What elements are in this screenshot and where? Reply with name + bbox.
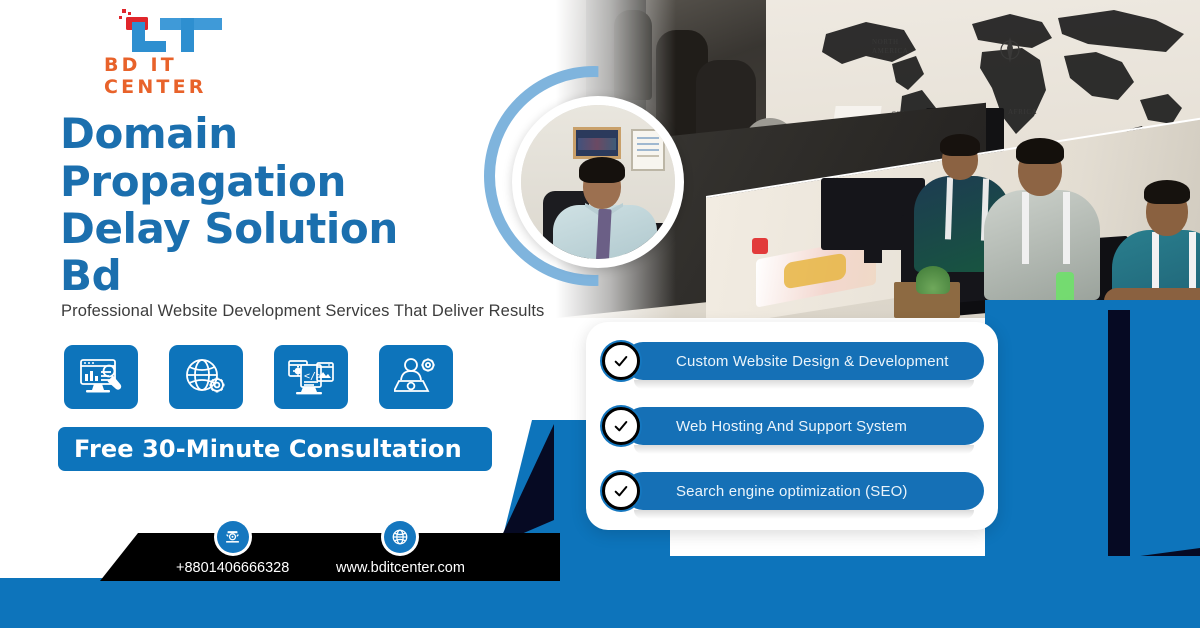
logo[interactable]: BD IT CENTER [92,8,272,74]
service-icon-tiles: </> [64,345,453,409]
navy-diagonal-stripe [560,548,1200,628]
headline-line-1: Domain [60,109,238,158]
globe-icon [384,521,416,553]
website-url: www.bditcenter.com [336,560,465,576]
blue-band-bottom-right [560,556,1200,628]
navy-triangle-accent [498,424,568,544]
page-title: Domain Propagation Delay Solution Bd [60,110,530,300]
subheadline: Professional Website Development Service… [61,302,581,321]
headline-line-2: Propagation [60,157,346,206]
feature-list-card: Custom Website Design & Development Web … [586,322,998,530]
blue-band-bottom-left [0,578,620,628]
check-circle-icon [600,340,642,382]
logo-wordmark: BD IT CENTER [104,54,272,98]
logo-mark-lt-icon [114,8,240,52]
svg-text:AFRICA: AFRICA [1008,108,1037,116]
check-circle-icon [600,470,642,512]
promo-banner: NORTH AMERICA SOUTH AMERICA AFRICA OCEAN… [0,0,1200,628]
headline-line-4: Bd [60,251,121,300]
blue-panel-right [985,300,1200,628]
feature-label-1: Custom Website Design & Development [624,342,984,380]
cta-label: Free 30-Minute Consultation [74,435,462,463]
support-agent-icon[interactable] [379,345,453,409]
svg-text:AMERICA: AMERICA [872,47,908,55]
check-circle-icon [600,405,642,447]
feature-label-3: Search engine optimization (SEO) [624,472,984,510]
phone-number: +8801406666328 [176,560,289,576]
globe-gear-icon[interactable] [169,345,243,409]
contact-website[interactable]: www.bditcenter.com [336,521,465,576]
contact-bar [100,533,560,581]
svg-text:NORTH: NORTH [872,38,899,46]
feature-item-3[interactable]: Search engine optimization (SEO) [600,470,984,512]
portrait-photo [512,96,684,268]
telephone-icon [217,521,249,553]
navy-stripe-right [1108,310,1200,580]
consultation-cta-button[interactable]: Free 30-Minute Consultation [58,427,492,471]
website-monitoring-icon[interactable] [64,345,138,409]
web-design-code-icon[interactable]: </> [274,345,348,409]
feature-item-1[interactable]: Custom Website Design & Development [600,340,984,382]
headline-line-3: Delay Solution [60,204,398,253]
feature-item-2[interactable]: Web Hosting And Support System [600,405,984,447]
contact-phone[interactable]: +8801406666328 [176,521,289,576]
feature-label-2: Web Hosting And Support System [624,407,984,445]
